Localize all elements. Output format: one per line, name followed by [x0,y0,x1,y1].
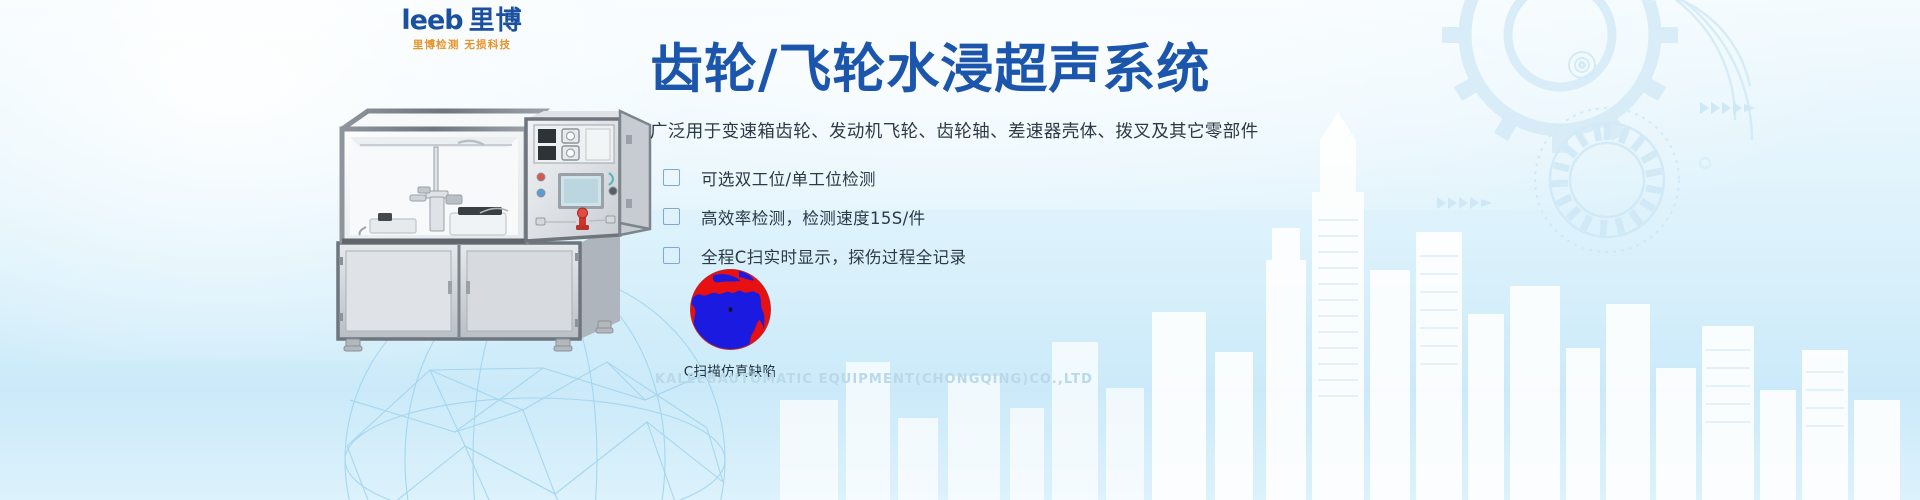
checkbox-icon[interactable] [663,169,680,186]
dot-decoration-tiny [1646,0,1654,2]
list-item[interactable]: 可选双工位/单工位检测 [650,161,1650,195]
brand-logo: leeb 里博 里博检测 无损科技 [342,6,582,52]
list-item[interactable]: 全程C扫实时显示，探伤过程全记录 [650,239,1650,273]
feature-list: 可选双工位/单工位检测 高效率检测，检测速度15S/件 全程C扫实时显示，探伤过… [650,161,1650,273]
logo-wordmark: leeb 里博 [401,7,522,34]
feature-label: 高效率检测，检测速度15S/件 [701,205,926,229]
list-item[interactable]: 高效率检测，检测速度15S/件 [650,200,1650,234]
hero-banner: leeb 里博 里博检测 无损科技 [0,0,1920,500]
logo-chinese-text: 里博 [469,8,523,34]
dot-decoration-small [1700,158,1710,168]
hero-subtitle: 广泛用于变速箱齿轮、发动机飞轮、齿轮轴、差速器壳体、拨叉及其它零部件 [650,118,1650,143]
cscan-figure: C扫描仿真缺陷 [670,267,790,380]
machine-hmi-touchscreen [558,173,604,209]
machine-photo [330,95,680,360]
logo-tagline: 里博检测 无损科技 [413,37,511,52]
page-title: 齿轮/飞轮水浸超声系统 [650,42,1650,98]
feature-label: 可选双工位/单工位检测 [701,166,876,190]
company-name-watermark: KALEEBAUTOMATIC EQUIPMENT(CHONGQING)CO.,… [655,372,1093,387]
checkbox-icon[interactable] [663,208,680,225]
machine-rear-panel [620,111,650,235]
machine-control-panel [526,111,620,241]
checkbox-icon[interactable] [663,247,680,264]
hero-content: 齿轮/飞轮水浸超声系统 广泛用于变速箱齿轮、发动机飞轮、齿轮轴、差速器壳体、拨叉… [650,42,1650,278]
logo-latin-text: leeb [401,7,462,34]
feature-label: 全程C扫实时显示，探伤过程全记录 [701,244,966,268]
machine-upper-enclosure [342,111,544,241]
cscan-defect-image [688,267,773,352]
